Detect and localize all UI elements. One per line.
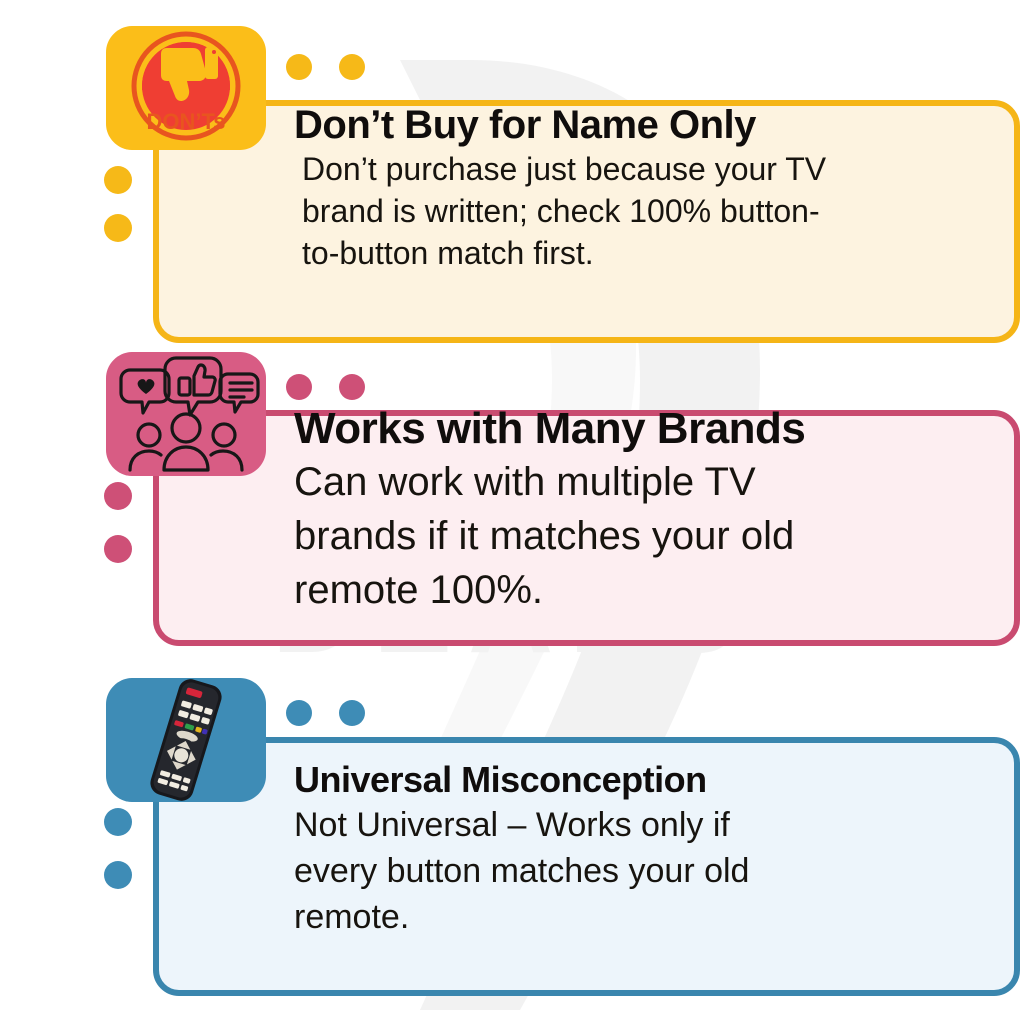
- card-title: Universal Misconception: [294, 758, 994, 802]
- card-body: Don’t purchase just because your TV bran…: [294, 148, 994, 274]
- decor-dot-top-1: [286, 700, 312, 726]
- card-body: Can work with multiple TV brands if it m…: [294, 455, 1004, 617]
- card-title: Works with Many Brands: [294, 403, 1004, 455]
- people-feedback-icon: [104, 350, 268, 478]
- card-dont-buy-for-name-only[interactable]: DON’Ts Don’t Buy for Name Only Don’t pur…: [104, 24, 1020, 334]
- card-text-group: Universal Misconception Not Universal – …: [294, 758, 994, 940]
- card-body-line: brands if it matches your old: [294, 509, 1004, 563]
- card-title: Don’t Buy for Name Only: [294, 102, 994, 148]
- decor-dot-left-2: [104, 535, 132, 563]
- card-body-line: Not Universal – Works only if: [294, 802, 994, 848]
- decor-dot-top-2: [339, 54, 365, 80]
- donts-thumbs-down-icon: DON’Ts: [104, 24, 268, 152]
- card-body-line: remote.: [294, 894, 994, 940]
- decor-dot-top-2: [339, 700, 365, 726]
- card-universal-misconception[interactable]: Universal Misconception Not Universal – …: [104, 676, 1020, 996]
- decor-dot-left-1: [104, 482, 132, 510]
- card-body-line: Don’t purchase just because your TV: [302, 148, 994, 190]
- card-body: Not Universal – Works only if every butt…: [294, 802, 994, 940]
- decor-dot-left-1: [104, 166, 132, 194]
- decor-dot-top-1: [286, 54, 312, 80]
- decor-dot-left-1: [104, 808, 132, 836]
- decor-dot-left-2: [104, 861, 132, 889]
- tv-remote-icon: [104, 676, 268, 804]
- icon-tab: [104, 676, 268, 804]
- infographic-canvas: DEALS: [0, 0, 1024, 1024]
- decor-dot-top-2: [339, 374, 365, 400]
- svg-text:DON’Ts: DON’Ts: [146, 109, 225, 134]
- card-works-with-many-brands[interactable]: Works with Many Brands Can work with mul…: [104, 350, 1020, 646]
- icon-tab: DON’Ts: [104, 24, 268, 152]
- card-text-group: Don’t Buy for Name Only Don’t purchase j…: [294, 102, 994, 274]
- decor-dot-top-1: [286, 374, 312, 400]
- card-body-line: remote 100%.: [294, 563, 1004, 617]
- card-text-group: Works with Many Brands Can work with mul…: [294, 403, 1004, 617]
- card-body-line: every button matches your old: [294, 848, 994, 894]
- card-body-line: Can work with multiple TV: [294, 455, 1004, 509]
- card-body-line: brand is written; check 100% button-: [302, 190, 994, 232]
- decor-dot-left-2: [104, 214, 132, 242]
- card-body-line: to-button match first.: [302, 232, 994, 274]
- icon-tab: [104, 350, 268, 478]
